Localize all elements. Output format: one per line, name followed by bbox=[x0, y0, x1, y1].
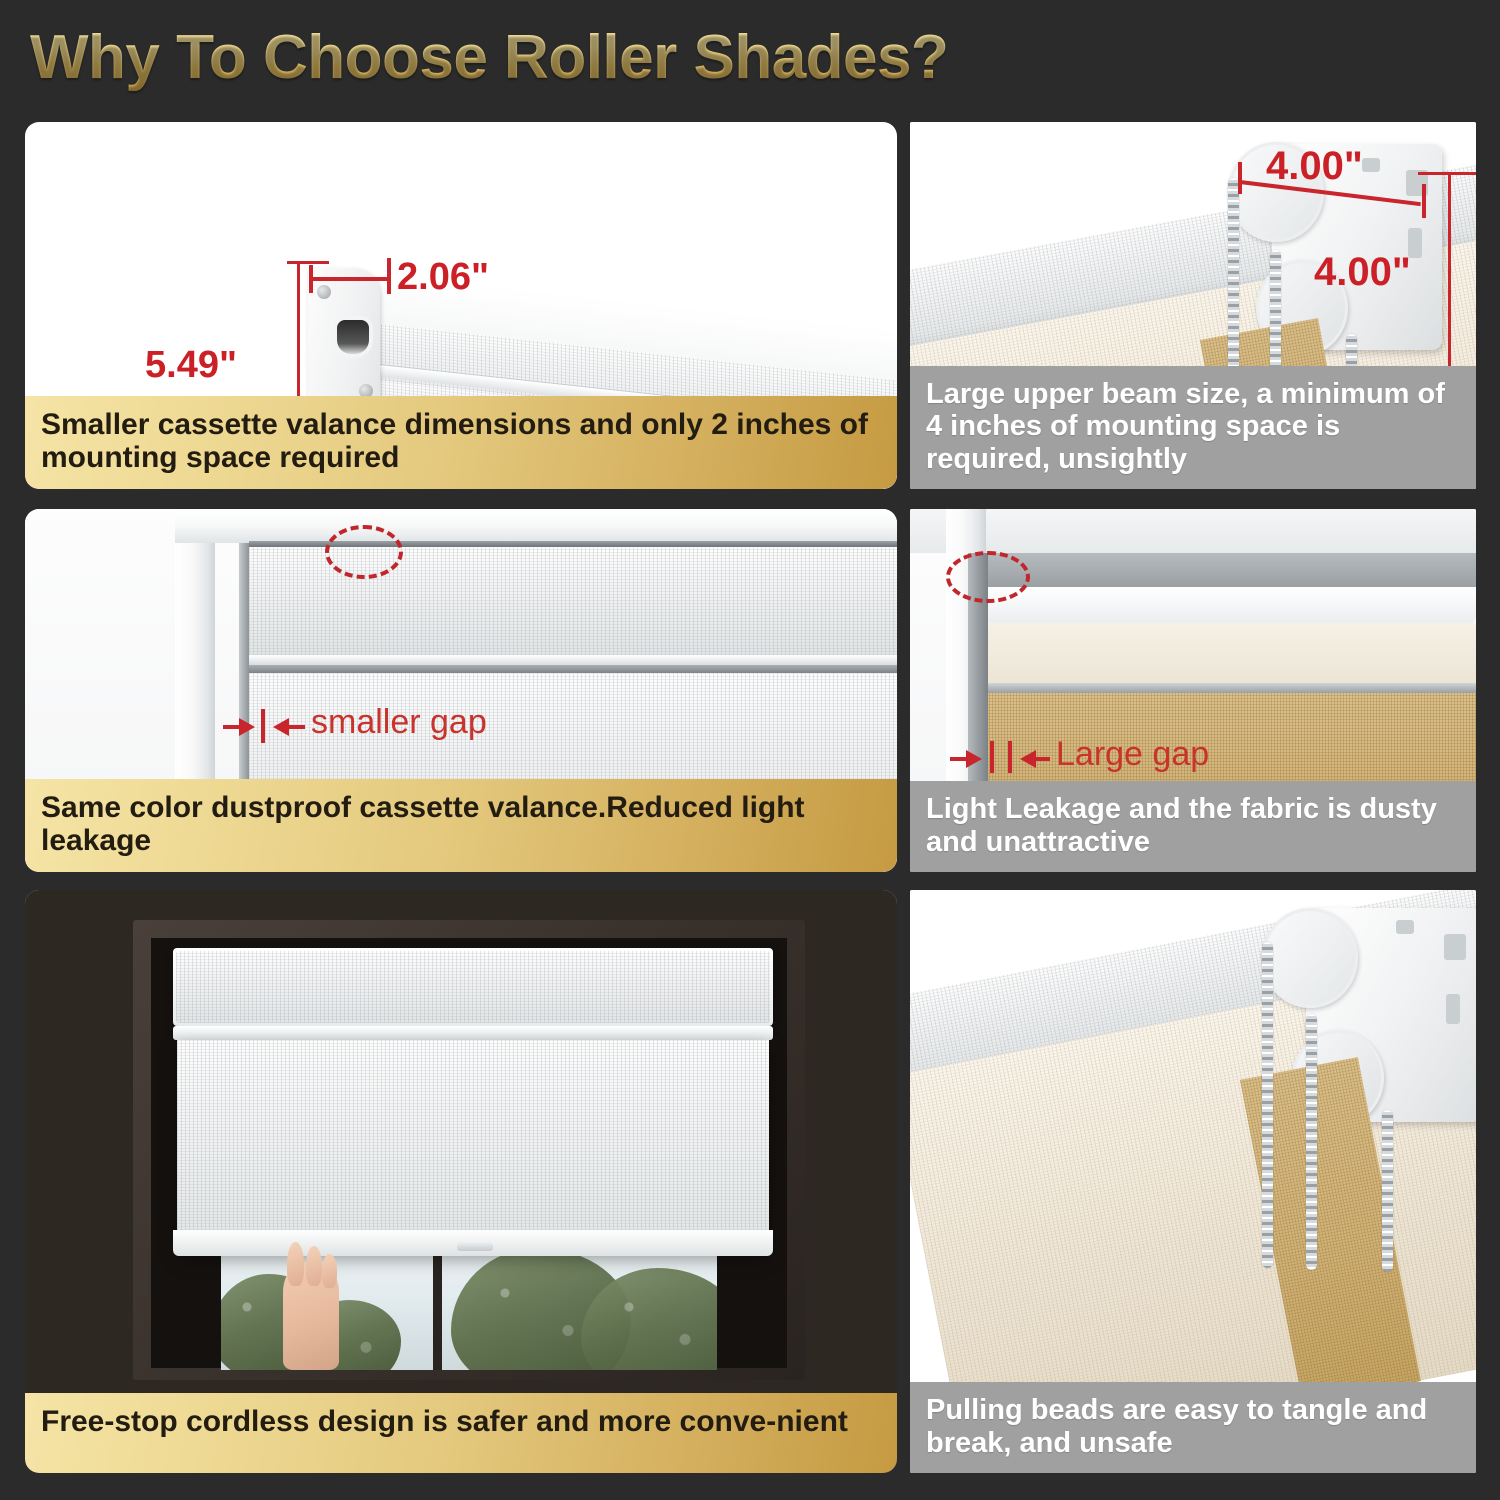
bracket-notch-c bbox=[1362, 158, 1380, 172]
gap-arrow-left bbox=[273, 718, 289, 736]
highlight-ring-valance bbox=[325, 525, 403, 579]
panel-caption: Large upper beam size, a minimum of 4 in… bbox=[910, 366, 1476, 489]
highlight-ring-beam bbox=[946, 551, 1030, 603]
dim-tick-height-top bbox=[287, 261, 329, 264]
dim-tick-beam-top bbox=[1418, 172, 1476, 175]
panel-caption: Smaller cassette valance dimensions and … bbox=[25, 396, 897, 489]
cassette-head bbox=[173, 948, 773, 1026]
gap-arrow-stem-right bbox=[1036, 757, 1050, 761]
ceiling-band bbox=[910, 509, 1476, 553]
dimension-label-width: 2.06" bbox=[397, 256, 489, 299]
end-cap-screw-top bbox=[317, 285, 331, 299]
thumb bbox=[322, 1254, 337, 1288]
panel-large-upper-beam: 4.00" 4.00" Large upper beam size, a min… bbox=[910, 122, 1476, 489]
window-mullion bbox=[433, 1238, 442, 1370]
gap-arrow-stem-right bbox=[289, 725, 305, 729]
dimension-label-beam-width: 4.00" bbox=[1266, 144, 1363, 189]
panel-large-gap: Large gap Light Leakage and the fabric i… bbox=[910, 509, 1476, 872]
panel-cordless-design: Free-stop cordless design is safer and m… bbox=[25, 890, 897, 1473]
gap-tick bbox=[261, 709, 265, 743]
dimension-label-beam-height: 4.00" bbox=[1314, 250, 1411, 295]
panel-caption: Free-stop cordless design is safer and m… bbox=[25, 1393, 897, 1473]
annotation-large-gap: Large gap bbox=[1056, 735, 1209, 774]
finger-index bbox=[287, 1242, 304, 1286]
dimension-label-height: 5.49" bbox=[145, 344, 237, 387]
head-fabric-texture bbox=[176, 951, 770, 1023]
image-window-room-scene bbox=[25, 890, 897, 1473]
fabric-shadow-line bbox=[249, 665, 897, 673]
dim-line-beam-height bbox=[1448, 174, 1451, 390]
shade-fabric bbox=[177, 1040, 769, 1254]
dim-tick-width-left bbox=[309, 265, 313, 293]
panel-smaller-gap: smaller gap Same color dustproof cassett… bbox=[25, 509, 897, 872]
bracket-disc-upper bbox=[1262, 908, 1358, 1008]
bead-chain-back bbox=[1306, 1014, 1317, 1270]
panel-pulling-beads: Pulling beads are easy to tangle and bre… bbox=[910, 890, 1476, 1473]
fabric-top-wrap bbox=[986, 623, 1476, 683]
fabric-edge-line bbox=[986, 683, 1476, 693]
finger-middle bbox=[306, 1246, 322, 1286]
dim-tick-width-right bbox=[387, 258, 391, 294]
panel-caption: Light Leakage and the fabric is dusty an… bbox=[910, 781, 1476, 872]
panel-cassette-valance-dimensions: 2.06" 5.49" Smaller cassette valance dim… bbox=[25, 122, 897, 489]
bead-chain-tail bbox=[1382, 1110, 1393, 1272]
bottom-rail-handle bbox=[457, 1242, 493, 1251]
roller-tube bbox=[986, 587, 1476, 627]
gap-arrow-right bbox=[966, 750, 982, 768]
page-title: Why To Choose Roller Shades? bbox=[30, 22, 1130, 94]
gap-tick-b bbox=[1008, 741, 1012, 773]
dim-tick-beam-right bbox=[1422, 184, 1426, 218]
panel-caption: Same color dustproof cassette valance.Re… bbox=[25, 779, 897, 872]
valance-bottom-lip bbox=[249, 655, 897, 665]
gap-tick-a bbox=[990, 741, 994, 773]
dim-tick-beam-left bbox=[1238, 162, 1242, 194]
gap-arrow-left bbox=[1020, 750, 1036, 768]
bracket-notch-c bbox=[1396, 920, 1414, 934]
gap-arrow-right bbox=[239, 718, 255, 736]
end-cap-slot bbox=[337, 320, 369, 354]
bead-chain-front bbox=[1262, 942, 1273, 1268]
annotation-smaller-gap: smaller gap bbox=[311, 703, 487, 742]
panel-caption: Pulling beads are easy to tangle and bre… bbox=[910, 1382, 1476, 1473]
bracket-notch-a bbox=[1444, 934, 1466, 960]
window-frame-top bbox=[175, 509, 897, 543]
head-rail bbox=[173, 1026, 773, 1040]
dim-line-width bbox=[311, 277, 391, 281]
bracket-notch-b bbox=[1446, 994, 1460, 1024]
